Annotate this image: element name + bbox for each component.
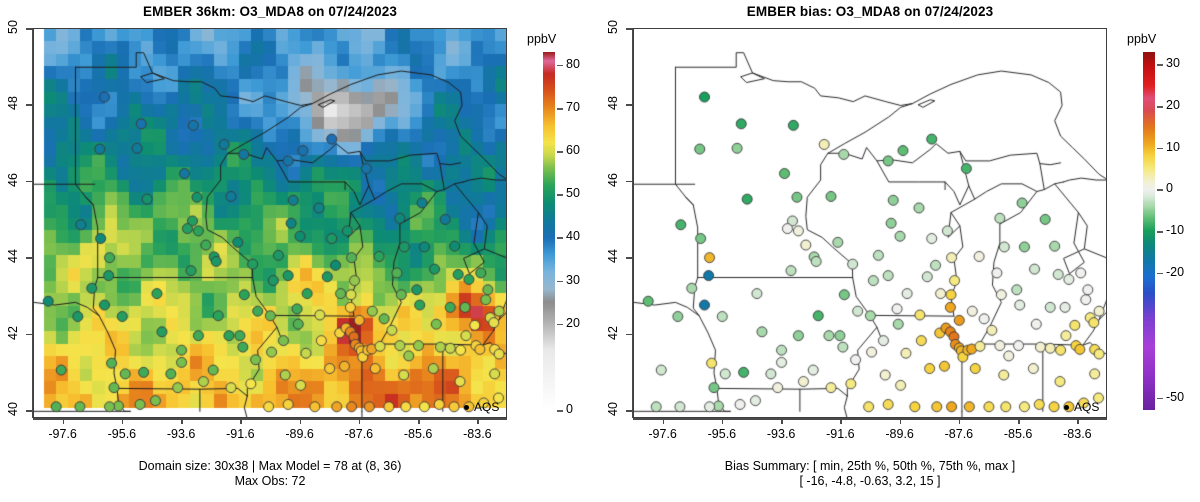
colorbar-tick-label: 20 [566,316,580,330]
colorbar-tick [557,237,563,239]
colorbar-tick [557,324,563,326]
caption-bias-summary-header: Bias Summary: [ min, 25th %, 50th %, 75t… [600,459,1140,474]
x-tick [122,418,124,424]
y-tick-label: 50 [6,16,20,38]
y-tick [26,28,32,30]
x-tick [63,418,65,424]
y-tick [26,257,32,259]
y-tick-label: 42 [606,322,620,344]
x-tick [900,418,902,424]
x-axis-line-right [633,418,1107,420]
map-plot-model [33,28,507,418]
colorbar-tick-label: 50 [566,186,580,200]
colorbar-tick [1157,148,1163,150]
panel-model-concentration: EMBER 36km: O3_MDA8 on 07/24/2023 -97.6-… [0,0,600,502]
x-tick [359,418,361,424]
colorbar-tick [557,410,563,412]
x-tick-label: -97.6 [41,427,85,441]
y-tick-label: 48 [6,92,20,114]
y-tick [626,104,632,106]
page-title-right: EMBER bias: O3_MDA8 on 07/24/2023 [600,4,1140,19]
x-tick-label: -85.6 [996,427,1040,441]
map-plot-bias [633,28,1107,418]
x-tick-label: -93.6 [759,427,803,441]
model-raster-canvas [34,29,507,418]
x-tick [722,418,724,424]
colorbar-tick [1157,106,1163,108]
colorbar-tick [1157,64,1163,66]
y-tick-label: 46 [6,169,20,191]
y-axis-line-right [632,28,634,418]
y-axis-line-left [32,28,34,418]
colorbar-tick-label: 80 [566,57,580,71]
x-tick [477,418,479,424]
y-tick-label: 46 [606,169,620,191]
colorbar-tick-label: 20 [1166,98,1180,112]
x-tick-label: -95.6 [100,427,144,441]
colorbar-tick-label: -20 [1166,265,1184,279]
colorbar-tick-label: 0 [566,402,573,416]
colorbar-tick-label: 10 [1166,140,1180,154]
y-tick [26,181,32,183]
colorbar-tick-label: 30 [1166,56,1180,70]
colorbar-tick-label: -50 [1166,390,1184,404]
colorbar-tick [557,65,563,67]
colorbar-tick [557,108,563,110]
x-tick-label: -87.6 [937,427,981,441]
y-tick-label: 50 [606,16,620,38]
figure-root: EMBER 36km: O3_MDA8 on 07/24/2023 -97.6-… [0,0,1200,502]
colorbar-tick-label: 70 [566,100,580,114]
y-tick-label: 42 [6,322,20,344]
y-tick [626,181,632,183]
colorbar-label-right: ppbV [1127,32,1156,46]
colorbar-tick-label: 0 [1166,181,1173,195]
x-tick-label: -85.6 [396,427,440,441]
x-tick-label: -89.6 [878,427,922,441]
colorbar-tick [1157,398,1163,400]
x-tick [781,418,783,424]
y-tick-label: 44 [606,245,620,267]
y-tick-label: 44 [6,245,20,267]
colorbar-tick-label: 40 [566,229,580,243]
y-tick [26,104,32,106]
x-tick-label: -83.6 [455,427,499,441]
x-tick [1077,418,1079,424]
x-axis-line-left [33,418,507,420]
x-tick-label: -91.6 [218,427,262,441]
legend-aqs-right: AQS [1064,400,1099,414]
panel-bias: EMBER bias: O3_MDA8 on 07/24/2023 -97.6-… [600,0,1200,502]
x-tick-label: -97.6 [641,427,685,441]
colorbar-tick [557,151,563,153]
y-tick [626,257,632,259]
y-tick [26,334,32,336]
y-tick-label: 40 [6,398,20,420]
colorbar-tick [557,281,563,283]
colorbar-tick-label: -10 [1166,223,1184,237]
aqs-marker-icon [1064,405,1069,410]
aqs-marker-icon [464,405,469,410]
y-tick [626,410,632,412]
colorbar-model-canvas [543,52,555,410]
legend-aqs-label-left: AQS [474,400,499,414]
y-tick [626,334,632,336]
x-tick-label: -83.6 [1055,427,1099,441]
colorbar-label-left: ppbV [527,32,556,46]
colorbar-tick [1157,231,1163,233]
colorbar-bias [1143,52,1155,410]
x-tick [300,418,302,424]
colorbar-tick [1157,189,1163,191]
x-tick [840,418,842,424]
x-tick-label: -87.6 [337,427,381,441]
y-tick-label: 48 [606,92,620,114]
bias-scatter-canvas [634,29,1107,418]
legend-aqs-left: AQS [464,400,499,414]
x-tick-label: -93.6 [159,427,203,441]
caption-domain-size: Domain size: 30x38 | Max Model = 78 at (… [0,459,540,474]
x-tick-label: -89.6 [278,427,322,441]
y-tick-label: 40 [606,398,620,420]
caption-bias-summary-values: [ -16, -4.8, -0.63, 3.2, 15 ] [600,474,1140,489]
x-tick [418,418,420,424]
caption-max-obs: Max Obs: 72 [0,474,540,489]
colorbar-bias-canvas [1143,52,1155,410]
colorbar-tick-label: 30 [566,273,580,287]
x-tick [959,418,961,424]
x-tick [1018,418,1020,424]
x-tick-label: -91.6 [818,427,862,441]
x-tick [181,418,183,424]
x-tick [240,418,242,424]
colorbar-tick [1157,273,1163,275]
page-title-left: EMBER 36km: O3_MDA8 on 07/24/2023 [0,4,540,19]
colorbar-tick-label: 60 [566,143,580,157]
y-tick [626,28,632,30]
x-tick [663,418,665,424]
colorbar-tick [557,194,563,196]
y-tick [26,410,32,412]
x-tick-label: -95.6 [700,427,744,441]
legend-aqs-label-right: AQS [1074,400,1099,414]
colorbar-model [543,52,555,410]
